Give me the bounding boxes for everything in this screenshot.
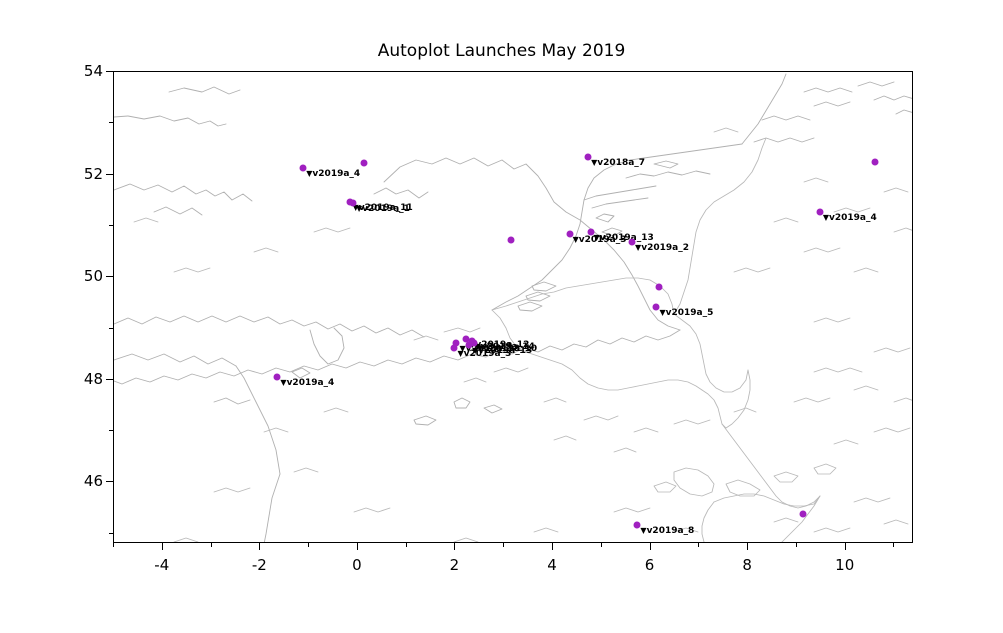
scatter-point-label: ▼v2019a_2	[635, 243, 689, 253]
x-tick-minor	[503, 543, 504, 547]
figure-canvas: Autoplot Launches May 2019	[0, 0, 1003, 633]
x-tick-major	[650, 543, 651, 550]
x-tick-major	[747, 543, 748, 550]
x-tick-minor	[601, 543, 602, 547]
x-tick-minor	[211, 543, 212, 547]
scatter-point-label: ▼v2019a_8	[640, 526, 694, 536]
scatter-point-label: ▼v2019a_1	[356, 204, 410, 214]
y-tick-minor	[109, 328, 113, 329]
scatter-point-label: ▼v2018a_7	[591, 158, 645, 168]
y-tick-label: 50	[65, 267, 103, 285]
x-tick-major	[454, 543, 455, 550]
y-tick-label: 54	[65, 62, 103, 80]
scatter-point-label: ▼v2019a_4	[823, 213, 877, 223]
x-tick-label: -2	[252, 556, 267, 574]
scatter-point-label: ▼v2019a_4	[306, 169, 360, 179]
y-tick-major	[106, 481, 113, 482]
x-tick-major	[845, 543, 846, 550]
x-tick-label: 2	[450, 556, 460, 574]
x-tick-label: 10	[835, 556, 854, 574]
x-tick-minor	[698, 543, 699, 547]
x-tick-minor	[308, 543, 309, 547]
x-tick-label: 8	[742, 556, 752, 574]
y-tick-minor	[109, 225, 113, 226]
x-tick-label: 4	[547, 556, 557, 574]
y-tick-major	[106, 71, 113, 72]
y-tick-minor	[109, 430, 113, 431]
y-tick-major	[106, 276, 113, 277]
x-tick-label: -4	[154, 556, 169, 574]
scatter-point-label: ▼v2019a_4	[280, 378, 334, 388]
y-tick-label: 48	[65, 370, 103, 388]
x-tick-major	[259, 543, 260, 550]
scatter-point-label: ▼v2019a_13	[594, 233, 654, 243]
x-tick-label: 0	[352, 556, 362, 574]
scatter-point	[360, 160, 367, 167]
scatter-point	[871, 158, 878, 165]
scatter-points-layer: ▼v2019a_4▼v2019a_11▼v2019a_1▼v2019a_4▼v2…	[114, 72, 913, 543]
page-title: Autoplot Launches May 2019	[0, 41, 1003, 61]
plot-area: ▼v2019a_4▼v2019a_11▼v2019a_1▼v2019a_4▼v2…	[113, 71, 913, 543]
scatter-point	[655, 284, 662, 291]
scatter-point-label: ▼v2019a_3	[457, 349, 511, 359]
x-tick-minor	[113, 543, 114, 547]
scatter-point	[799, 511, 806, 518]
x-tick-major	[162, 543, 163, 550]
y-tick-label: 52	[65, 165, 103, 183]
x-tick-label: 6	[645, 556, 655, 574]
y-tick-label: 46	[65, 472, 103, 490]
scatter-point-label: ▼v2019a_5	[659, 308, 713, 318]
y-tick-minor	[109, 533, 113, 534]
x-tick-minor	[796, 543, 797, 547]
x-tick-minor	[406, 543, 407, 547]
y-tick-major	[106, 379, 113, 380]
x-tick-minor	[893, 543, 894, 547]
y-tick-major	[106, 174, 113, 175]
y-tick-minor	[109, 122, 113, 123]
x-tick-major	[357, 543, 358, 550]
x-tick-major	[552, 543, 553, 550]
scatter-point	[507, 237, 514, 244]
